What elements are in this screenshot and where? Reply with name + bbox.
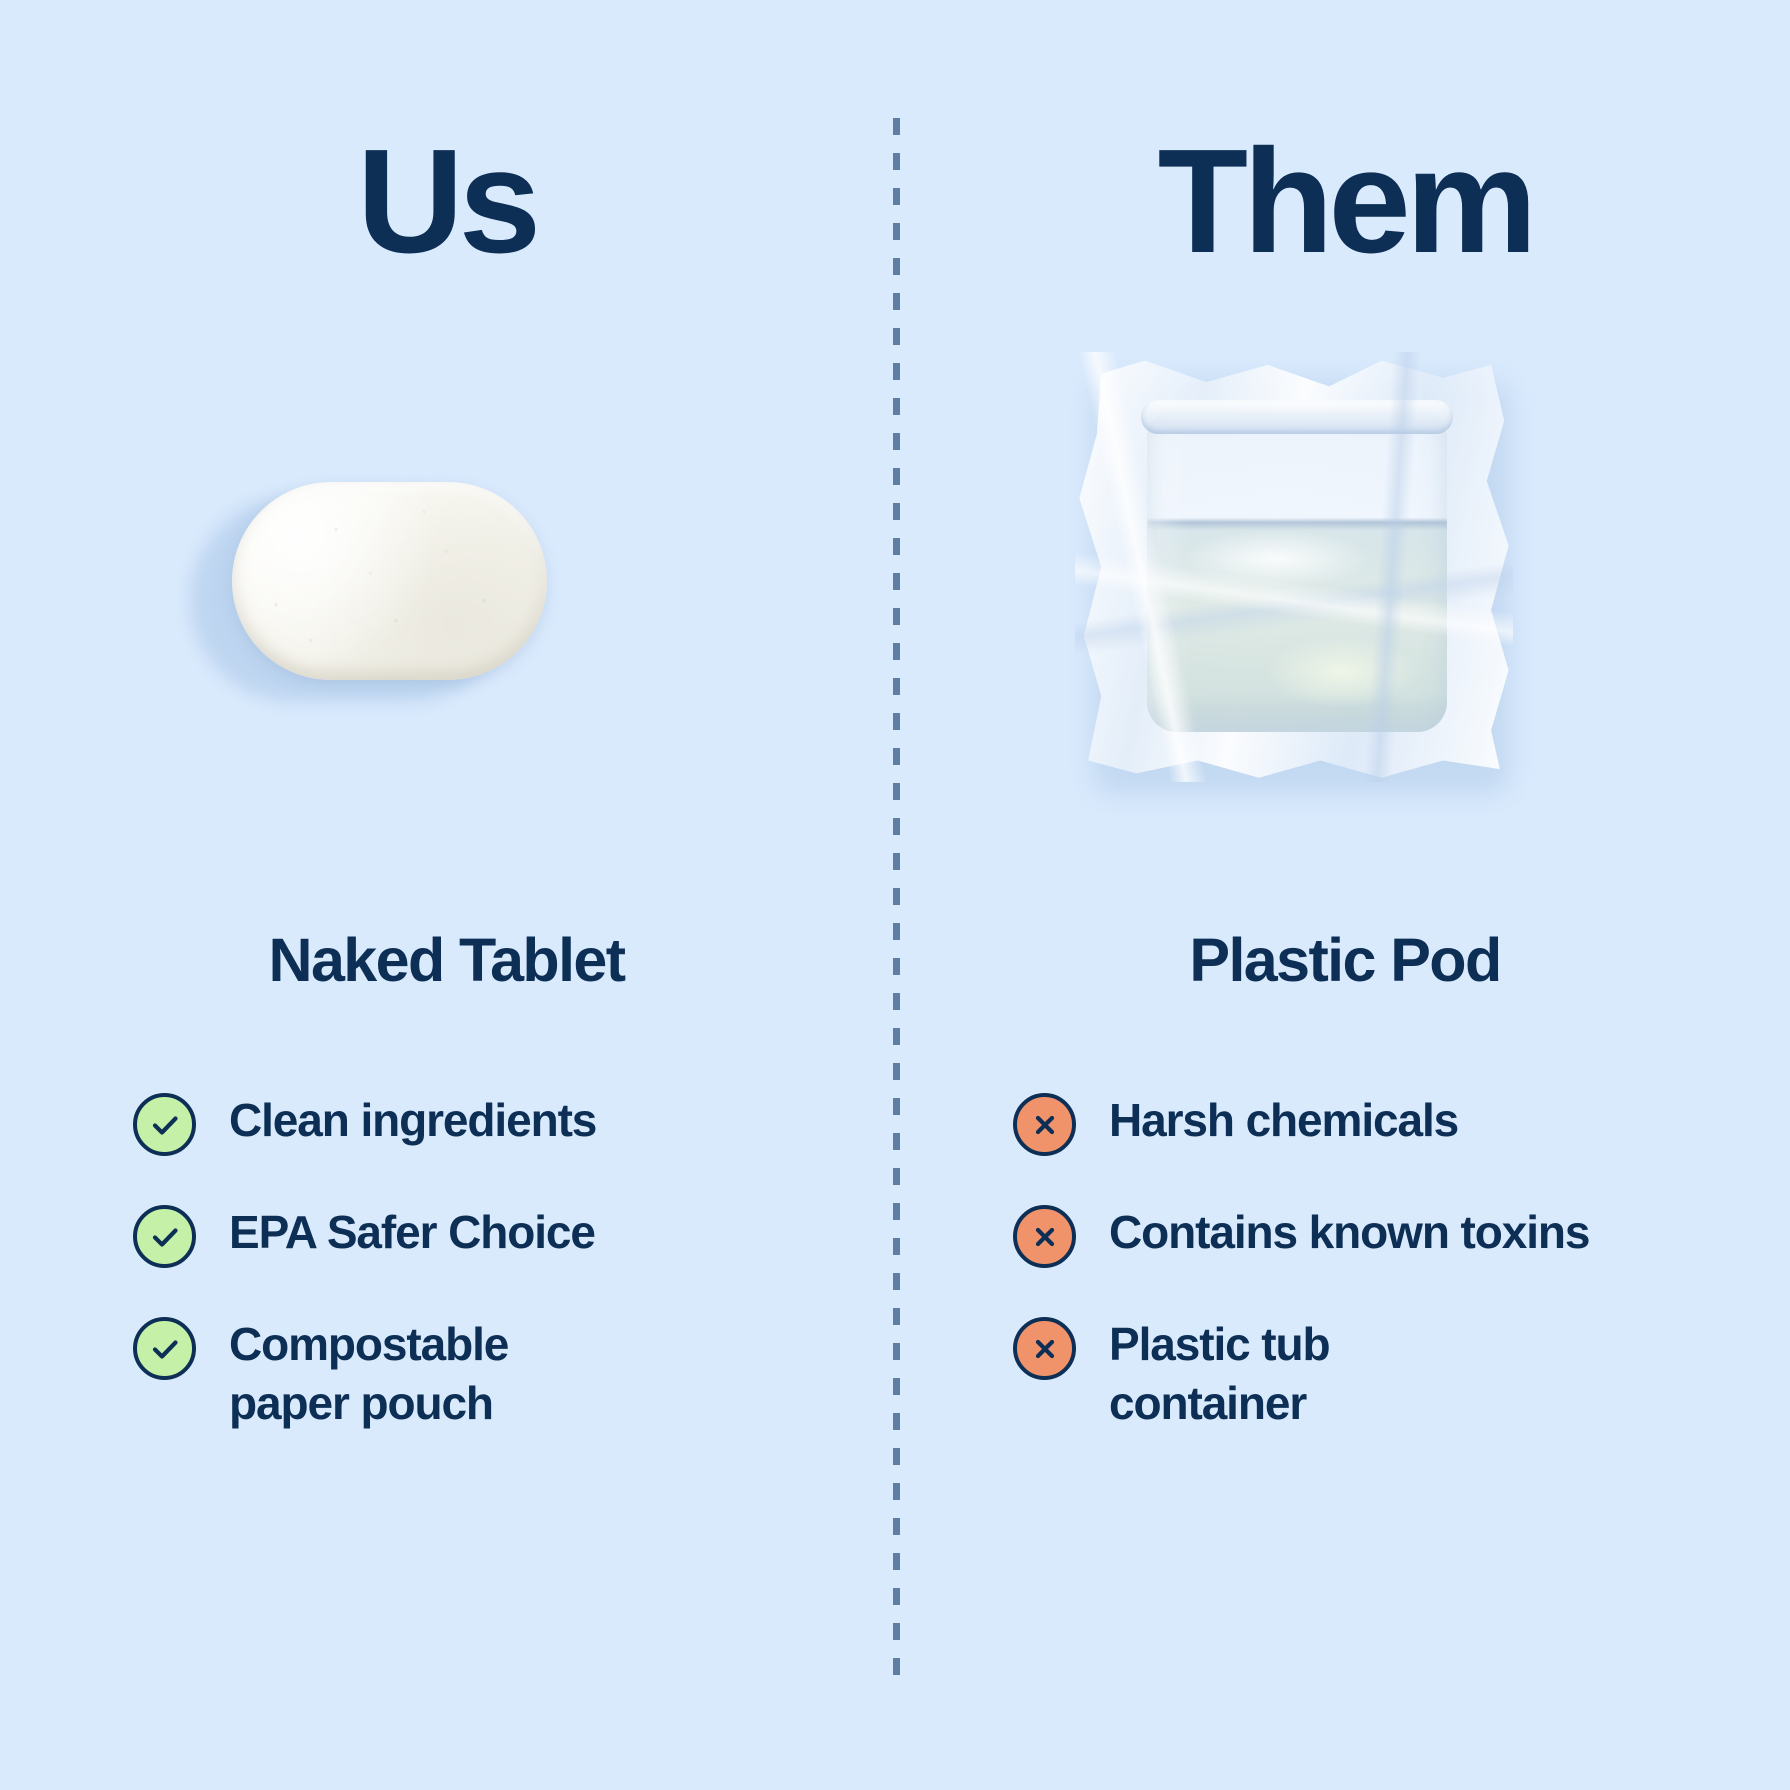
column-heading-them: Them <box>900 128 1790 276</box>
comparison-column-them: Them Plastic Pod Harsh chemicals <box>900 0 1790 1790</box>
feature-label: EPA Safer Choice <box>229 1200 595 1262</box>
product-image-naked-tablet <box>0 330 893 830</box>
check-icon <box>133 1093 196 1156</box>
feature-label: Harsh chemicals <box>1109 1088 1458 1150</box>
pod-seal <box>1141 400 1453 434</box>
x-icon <box>1013 1205 1076 1268</box>
x-icon <box>1013 1317 1076 1380</box>
check-icon <box>133 1317 196 1380</box>
list-item: Contains known toxins <box>1013 1200 1589 1268</box>
pod-liquid <box>1147 412 1447 732</box>
list-item: Plastic tub container <box>1013 1312 1589 1433</box>
x-icon <box>1013 1093 1076 1156</box>
naked-tablet-icon <box>232 482 547 680</box>
check-icon <box>133 1205 196 1268</box>
feature-label: Contains known toxins <box>1109 1200 1589 1262</box>
product-name-them: Plastic Pod <box>900 925 1790 995</box>
feature-list-them: Harsh chemicals Contains known toxins Pl… <box>1013 1088 1589 1433</box>
list-item: Compostable paper pouch <box>133 1312 596 1433</box>
vertical-dashed-divider <box>893 118 900 1676</box>
list-item: Harsh chemicals <box>1013 1088 1589 1156</box>
comparison-column-us: Us Naked Tablet Clean ingredients <box>0 0 893 1790</box>
column-heading-us: Us <box>0 128 893 276</box>
feature-label: Clean ingredients <box>229 1088 596 1150</box>
feature-label: Compostable paper pouch <box>229 1312 508 1433</box>
list-item: EPA Safer Choice <box>133 1200 596 1268</box>
feature-label: Plastic tub container <box>1109 1312 1330 1433</box>
feature-list-us: Clean ingredients EPA Safer Choice Compo… <box>133 1088 596 1433</box>
list-item: Clean ingredients <box>133 1088 596 1156</box>
comparison-infographic: Us Naked Tablet Clean ingredients <box>0 0 1790 1790</box>
product-name-us: Naked Tablet <box>0 925 893 995</box>
plastic-pod-icon <box>1075 352 1525 802</box>
product-image-plastic-pod <box>900 330 1790 830</box>
